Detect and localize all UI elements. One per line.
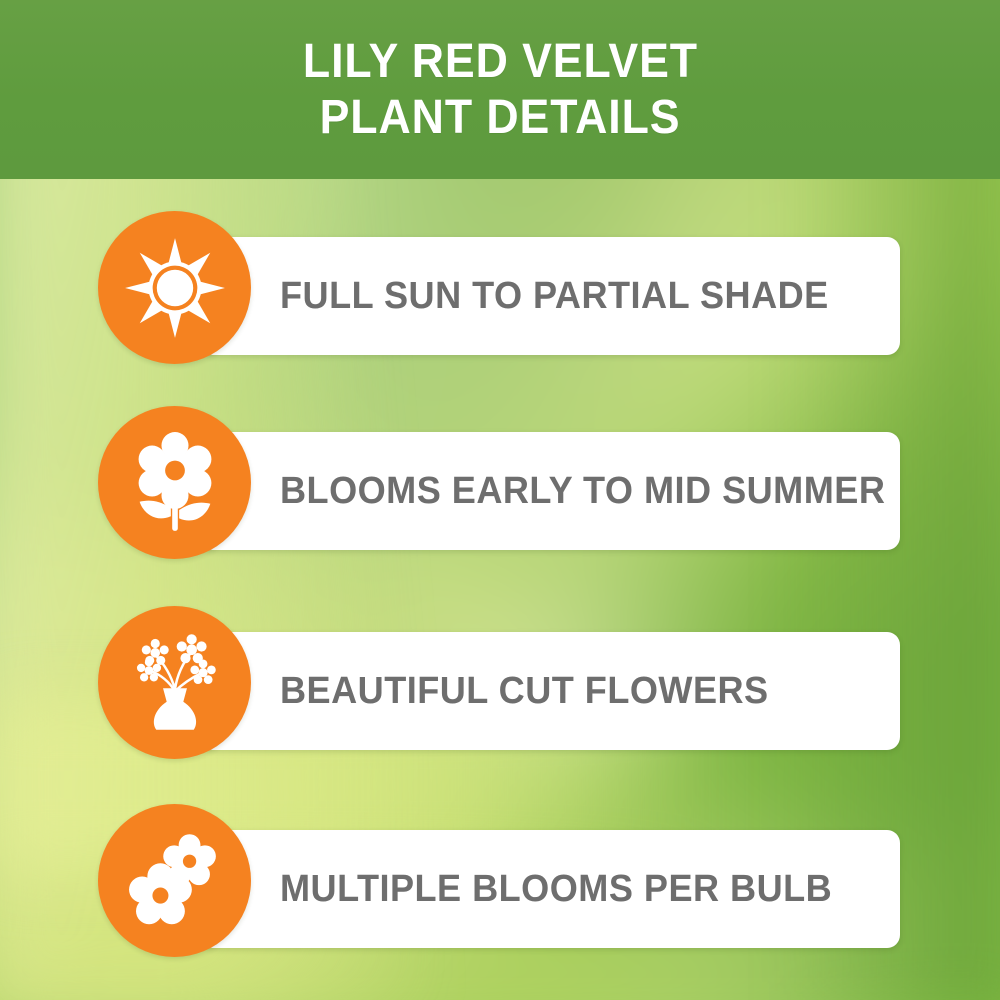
feature-label: BEAUTIFUL CUT FLOWERS xyxy=(280,670,769,713)
feature-icon-badge xyxy=(98,804,251,957)
flower-vase-icon xyxy=(123,631,227,735)
plant-details-poster: LILY RED VELVET PLANT DETAILS FULL SUN T… xyxy=(0,0,1000,1000)
feature-label: BLOOMS EARLY TO MID SUMMER xyxy=(280,470,885,513)
feature-row: BEAUTIFUL CUT FLOWERS xyxy=(0,602,1000,762)
feature-label: MULTIPLE BLOOMS PER BULB xyxy=(280,868,832,911)
page-title-line-1: LILY RED VELVET xyxy=(302,34,697,90)
feature-card: BLOOMS EARLY TO MID SUMMER xyxy=(200,432,900,550)
page-title-line-2: PLANT DETAILS xyxy=(320,90,681,146)
feature-card: BEAUTIFUL CUT FLOWERS xyxy=(200,632,900,750)
feature-card: MULTIPLE BLOOMS PER BULB xyxy=(200,830,900,948)
feature-row: BLOOMS EARLY TO MID SUMMER xyxy=(0,402,1000,562)
feature-icon-badge xyxy=(98,406,251,559)
feature-icon-badge xyxy=(98,211,251,364)
sun-icon xyxy=(123,236,227,340)
feature-row: MULTIPLE BLOOMS PER BULB xyxy=(0,800,1000,960)
flower-with-stem-icon xyxy=(123,431,227,535)
feature-icon-badge xyxy=(98,606,251,759)
feature-label: FULL SUN TO PARTIAL SHADE xyxy=(280,275,829,318)
feature-row: FULL SUN TO PARTIAL SHADE xyxy=(0,207,1000,367)
two-flowers-icon xyxy=(123,829,227,933)
feature-card: FULL SUN TO PARTIAL SHADE xyxy=(200,237,900,355)
poster-header: LILY RED VELVET PLANT DETAILS xyxy=(0,0,1000,179)
